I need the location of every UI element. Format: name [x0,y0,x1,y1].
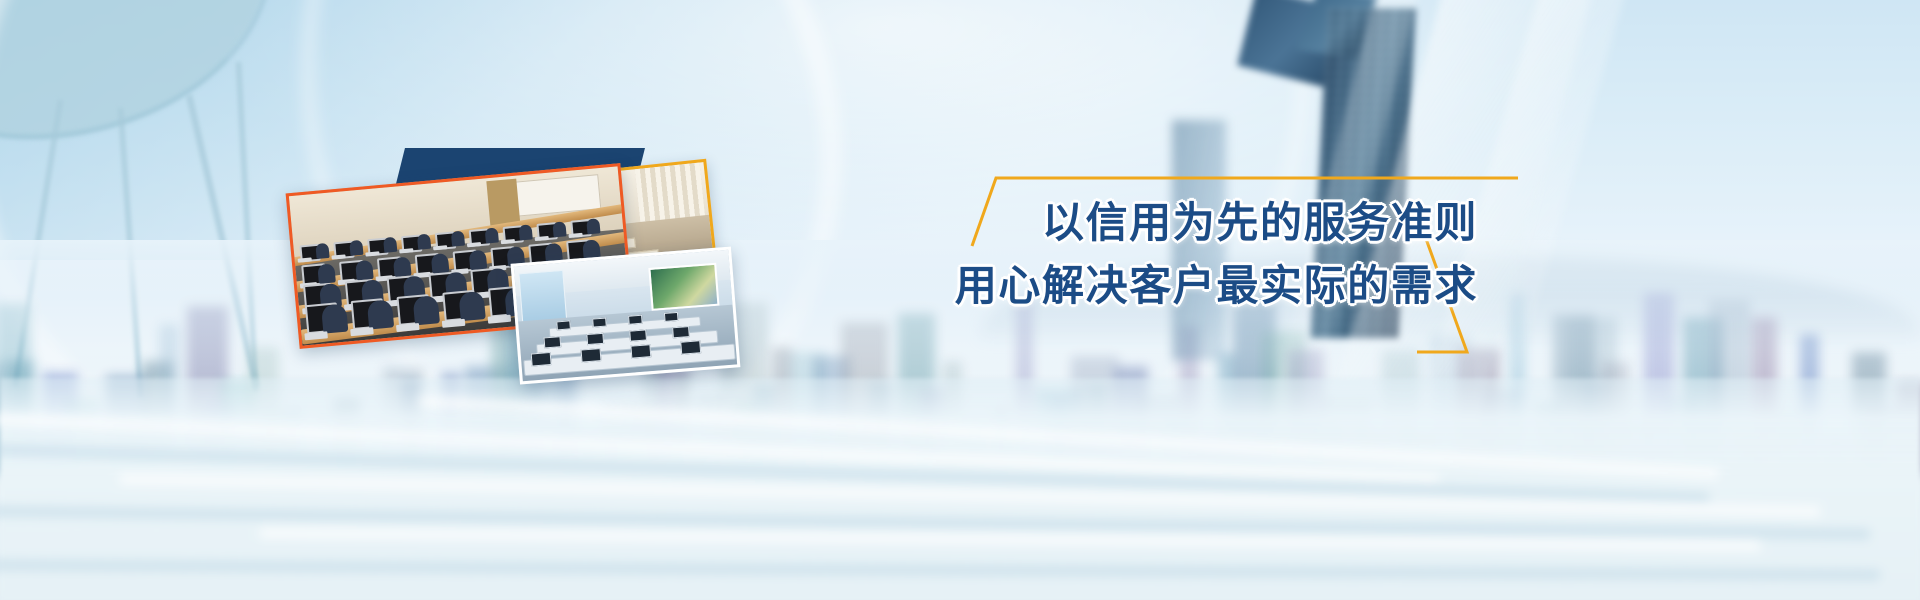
photo-collage [280,110,860,410]
lab-chair [485,228,499,244]
control-room-map-display [648,262,720,310]
lab-chair [349,240,363,256]
lab-chair [586,219,600,235]
control-monitor [628,315,643,325]
foreground-plaza [0,378,1920,600]
control-monitor [664,312,679,322]
control-monitor [556,320,571,330]
lab-chair [315,243,329,259]
lab-chair [355,260,374,281]
control-monitor [531,352,552,367]
lab-chair [393,256,412,277]
control-monitor [680,340,701,355]
control-monitor [543,336,561,348]
control-monitor [581,348,602,363]
lab-chair [317,263,336,284]
lab-chair [552,222,566,238]
control-monitor [630,344,651,359]
plaza-light-streak [0,560,1880,580]
control-monitor [672,326,690,338]
lab-chair [469,249,488,270]
lab-chair [451,231,465,247]
control-monitor [586,333,604,345]
lab-chair [519,225,533,241]
lab-chair [431,253,450,274]
lab-chair [383,237,397,253]
slogan-block: 以信用为先的服务准则 用心解决客户最实际的需求 [838,196,1478,313]
control-room-photo[interactable] [511,247,741,385]
slogan-line-1: 以信用为先的服务准则 [838,196,1478,251]
control-monitor [629,329,647,341]
lab-chair [417,234,431,250]
control-monitor [592,318,607,328]
slogan-line-2: 用心解决客户最实际的需求 [838,259,1478,314]
hero-banner: 以信用为先的服务准则 用心解决客户最实际的需求 [0,0,1920,600]
